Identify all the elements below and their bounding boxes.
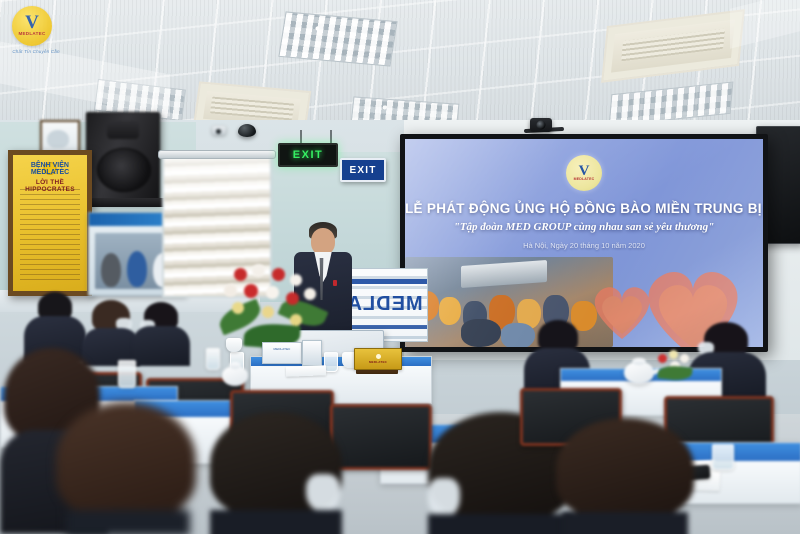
- slide-date: Hà Nội, Ngày 20 tháng 10 năm 2020: [405, 241, 763, 250]
- suit: [132, 326, 190, 366]
- poster-body-text: [20, 189, 80, 283]
- foreground-person: [210, 412, 342, 534]
- slide-subtitle: "Tập đoàn MED GROUP cùng nhau san sẻ yêu…: [405, 221, 763, 233]
- projection-screen: V MEDLATEC LỄ PHÁT ĐỘNG ỦNG HỘ ĐỒNG BÀO …: [405, 139, 763, 347]
- camera-lens: [537, 121, 546, 130]
- slide-title: LỄ PHÁT ĐỘNG ỦNG HỘ ĐỒNG BÀO MIỀN TRUNG …: [405, 201, 763, 216]
- exit-sign-wall: EXIT: [340, 158, 386, 182]
- slide-logo-brand: MEDLATEC: [574, 177, 595, 181]
- watermark-bird-icon: V: [25, 16, 39, 30]
- speaker-head: [311, 228, 335, 255]
- tea-cup: [226, 338, 242, 352]
- hair: [556, 418, 694, 518]
- chair-back: [330, 404, 432, 470]
- suit: [210, 510, 342, 534]
- exit-sign-label: EXIT: [349, 165, 376, 176]
- suit: [66, 510, 190, 534]
- speaker-horn: [107, 121, 139, 139]
- suit: [562, 512, 688, 534]
- flower: [244, 284, 258, 298]
- bullet-camera: [212, 126, 226, 135]
- event-photo-scene: BỆNH VIỆN MEDLATEC LỜI THỀ HIPPOCRATES E…: [0, 0, 800, 534]
- poster-logo-mark: BỆNH VIỆN MEDLATEC: [44, 162, 57, 175]
- tent-card-text: MEDLATEC: [266, 347, 298, 351]
- exit-sign-illuminated: EXIT: [278, 143, 338, 167]
- nameplate: MEDLATEC: [354, 348, 402, 370]
- flower: [224, 284, 237, 297]
- speaker-shelf: [80, 198, 166, 207]
- hair: [56, 402, 196, 518]
- face-mask: [428, 478, 460, 518]
- chair[interactable]: [330, 404, 426, 474]
- flower: [680, 354, 689, 363]
- water-glass: [206, 348, 220, 370]
- teapot: [624, 362, 654, 384]
- teapot: [222, 366, 248, 386]
- foreground-person: [556, 418, 694, 534]
- poster-person: [101, 253, 121, 287]
- flower: [262, 306, 274, 318]
- leaf: [657, 364, 692, 381]
- flower: [304, 288, 316, 300]
- photo-roof: [461, 260, 547, 288]
- slide-logo: V MEDLATEC: [566, 155, 602, 191]
- poster-logo: BỆNH VIỆN MEDLATEC: [44, 162, 57, 175]
- watermark-logo: V MEDLATEC Chất Tín Chuyên Cần: [4, 6, 68, 60]
- teapot-lid: [632, 358, 645, 365]
- speaker-cone: [97, 148, 151, 192]
- flower: [669, 350, 678, 359]
- flower: [290, 314, 302, 326]
- window-light: [164, 154, 270, 218]
- watermark-brand: MEDLATEC: [18, 31, 45, 36]
- watermark-circle: V MEDLATEC: [12, 6, 52, 46]
- teapot-lid: [229, 362, 240, 369]
- papers: [286, 365, 326, 376]
- flower: [232, 302, 244, 314]
- exit-sign-hanger: [330, 130, 332, 144]
- slide-logo-bird-icon: V: [579, 165, 590, 177]
- water-glass: [118, 360, 136, 388]
- flower: [266, 286, 279, 299]
- water-glass: [712, 444, 734, 470]
- exit-sign-label: EXIT: [293, 149, 323, 161]
- tissue-box: [302, 340, 322, 366]
- video-conference-camera: [530, 118, 552, 132]
- audience-person: [132, 302, 190, 366]
- nameplate-text: MEDLATEC: [369, 360, 387, 364]
- flower: [658, 354, 667, 363]
- speaker-lapel-pin: [333, 280, 337, 286]
- pa-speaker: [86, 112, 160, 202]
- dome-camera: [238, 124, 256, 137]
- poster-person: [127, 251, 147, 287]
- flower: [252, 264, 265, 277]
- face-mask: [306, 474, 340, 512]
- flower: [290, 274, 302, 286]
- tent-card: MEDLATEC: [262, 342, 302, 364]
- blind-rod[interactable]: [158, 150, 276, 159]
- photo-figure: [461, 319, 501, 347]
- exit-sign-hanger: [300, 130, 302, 144]
- poster-logo-bird: BỆNH VIỆN MEDLATEC: [31, 162, 69, 176]
- hippocratic-oath-poster: BỆNH VIỆN MEDLATEC LỜI THỀ HIPPOCRATES: [8, 150, 92, 296]
- flower-vase: [656, 350, 700, 384]
- suit: [428, 514, 574, 534]
- flower: [272, 268, 285, 281]
- foreground-person: [56, 402, 196, 534]
- nameplate-logo: [376, 354, 381, 359]
- watermark-tagline: Chất Tín Chuyên Cần: [4, 49, 68, 54]
- flower: [234, 268, 247, 281]
- flower: [286, 292, 299, 305]
- photo-figure: [439, 297, 461, 325]
- water-glass: [324, 352, 338, 372]
- ceiling-light-panel: [278, 11, 397, 66]
